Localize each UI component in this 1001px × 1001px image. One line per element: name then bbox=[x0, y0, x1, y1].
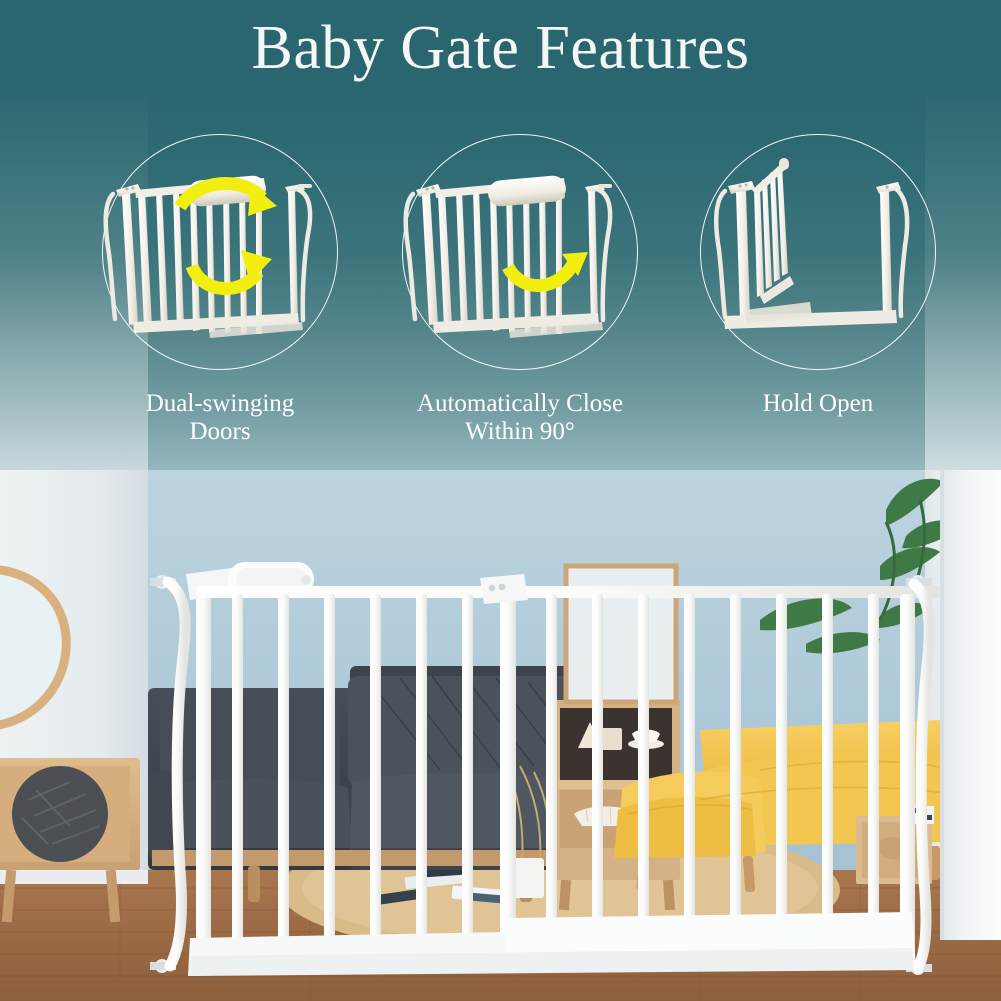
feature-item-hold-open: Hold Open bbox=[668, 132, 968, 452]
feature-item-automatically-close: Automatically Close Within 90° bbox=[370, 132, 670, 452]
feature-item-dual-swinging-doors: Dual-swinging Doors bbox=[70, 132, 370, 452]
baby-gate-dual-swing-icon bbox=[102, 134, 338, 370]
product-infographic: Baby Gate Features bbox=[0, 0, 1001, 1001]
feature-caption-line1: Automatically Close bbox=[370, 390, 670, 418]
baby-gate-hold-open-icon bbox=[700, 134, 936, 370]
page-title: Baby Gate Features bbox=[0, 12, 1001, 84]
feature-caption: Dual-swinging Doors bbox=[70, 390, 370, 446]
feature-caption: Automatically Close Within 90° bbox=[370, 390, 670, 446]
baby-gate-auto-close-icon bbox=[402, 134, 638, 370]
feature-caption-line2: Doors bbox=[70, 418, 370, 446]
feature-caption-line1: Dual-swinging bbox=[70, 390, 370, 418]
feature-caption-line2: Within 90° bbox=[370, 418, 670, 446]
feature-list: Dual-swinging Doors bbox=[0, 132, 1001, 452]
room-scene-photo bbox=[0, 470, 1001, 1001]
feature-caption-line1: Hold Open bbox=[668, 390, 968, 418]
feature-caption: Hold Open bbox=[668, 390, 968, 418]
